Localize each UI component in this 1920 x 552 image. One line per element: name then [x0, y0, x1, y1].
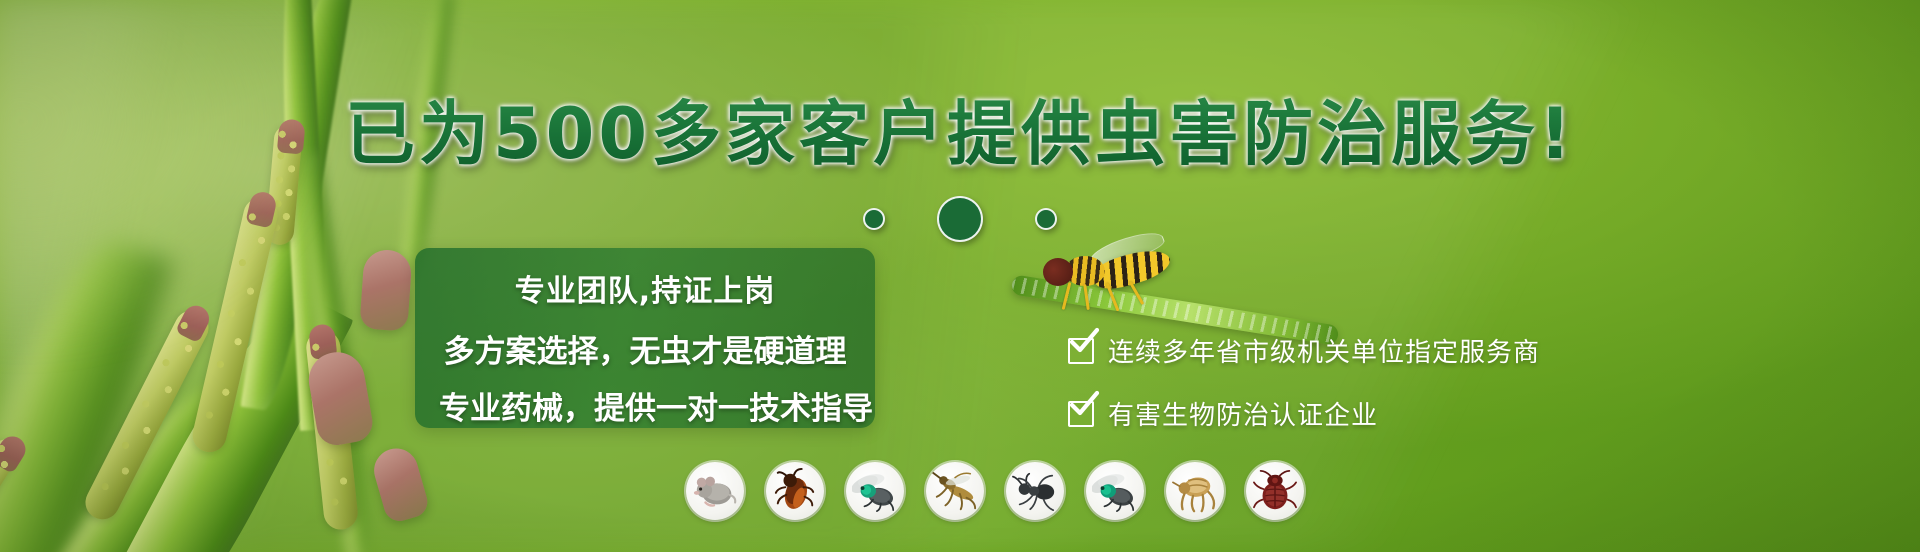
promo-banner: 已为500多家客户提供虫害防治服务! 专业团队,持证上岗 多方案选择，无虫才是硬… — [0, 0, 1920, 552]
selling-points-panel: 专业团队,持证上岗 多方案选择，无虫才是硬道理 专业药械，提供一对一技术指导 — [415, 248, 875, 428]
mosquito-icon[interactable] — [926, 462, 984, 520]
flea-icon[interactable] — [1166, 462, 1224, 520]
selling-point-line-2: 多方案选择，无虫才是硬道理 — [439, 326, 851, 371]
check-icon — [1068, 338, 1094, 364]
selling-point-line-1: 专业团队,持证上岗 — [439, 266, 851, 310]
bedbug-icon[interactable] — [1246, 462, 1304, 520]
decor-dot-large-center — [937, 196, 983, 242]
selling-point-line-3: 专业药械，提供一对一技术指导 — [439, 383, 851, 428]
decor-dot-small-left — [863, 208, 885, 230]
check-icon — [1068, 401, 1094, 427]
credential-list: 连续多年省市级机关单位指定服务商 有害生物防治认证企业 — [1068, 332, 1540, 432]
mouse-icon[interactable] — [686, 462, 744, 520]
fly-icon[interactable] — [846, 462, 904, 520]
list-item: 连续多年省市级机关单位指定服务商 — [1068, 332, 1540, 369]
credential-label: 连续多年省市级机关单位指定服务商 — [1108, 332, 1540, 369]
decor-dot-small-right — [1035, 208, 1057, 230]
ant-icon[interactable] — [1006, 462, 1064, 520]
cockroach-icon[interactable] — [766, 462, 824, 520]
decor-dots — [863, 196, 1057, 242]
pest-icon-row — [686, 462, 1304, 520]
greenbottle-fly-icon[interactable] — [1086, 462, 1144, 520]
list-item: 有害生物防治认证企业 — [1068, 395, 1540, 432]
credential-label: 有害生物防治认证企业 — [1108, 395, 1378, 432]
